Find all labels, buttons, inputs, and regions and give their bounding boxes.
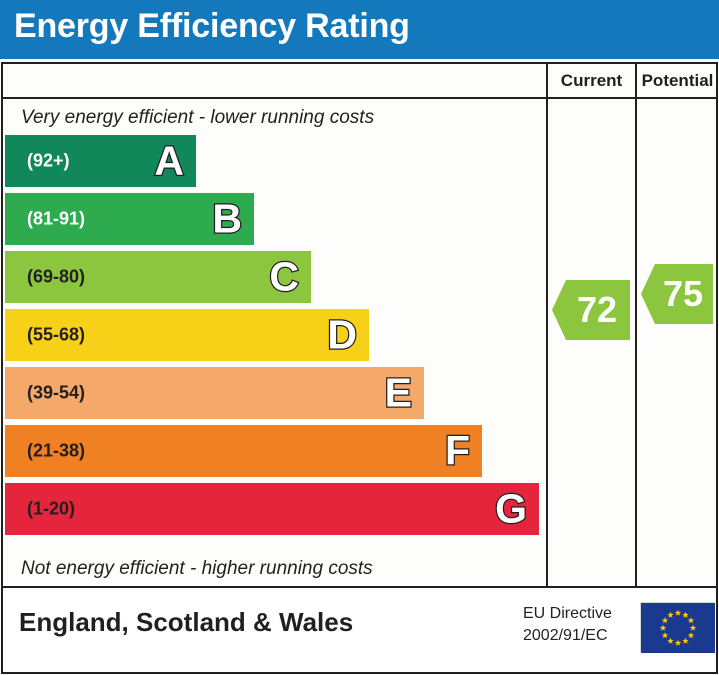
band-range-g: (1-20) <box>27 499 75 520</box>
eu-directive-line2: 2002/91/EC <box>523 625 633 647</box>
band-range-e: (39-54) <box>27 383 85 404</box>
band-range-f: (21-38) <box>27 441 85 462</box>
page-title: Energy Efficiency Rating <box>14 7 410 46</box>
current-rating-arrow: 72 <box>552 280 630 340</box>
band-bar-b: (81-91)B <box>5 193 254 245</box>
eu-directive-line1: EU Directive <box>523 603 633 625</box>
band-range-d: (55-68) <box>27 325 85 346</box>
column-header-current: Current <box>546 64 635 97</box>
band-letter-d: D <box>327 315 357 356</box>
title-bar: Energy Efficiency Rating <box>0 0 719 59</box>
band-letter-e: E <box>385 373 412 414</box>
band-bar-g: (1-20)G <box>5 483 539 535</box>
energy-efficiency-certificate: Energy Efficiency Rating Current Potenti… <box>0 0 719 675</box>
band-range-a: (92+) <box>27 151 70 172</box>
band-range-c: (69-80) <box>27 267 85 288</box>
column-header-potential: Potential <box>635 64 718 97</box>
caption-not-efficient: Not energy efficient - higher running co… <box>3 551 546 586</box>
band-bar-c: (69-80)C <box>5 251 311 303</box>
band-range-b: (81-91) <box>27 209 85 230</box>
potential-rating-value: 75 <box>651 276 703 312</box>
band-letter-a: A <box>154 141 184 182</box>
band-bar-d: (55-68)D <box>5 309 369 361</box>
band-letter-b: B <box>212 199 242 240</box>
band-bars: (92+)A(81-91)B(69-80)C(55-68)D(39-54)E(2… <box>3 135 546 551</box>
rating-grid: Current Potential Very energy efficient … <box>1 62 718 674</box>
region-label: England, Scotland & Wales <box>19 607 353 638</box>
eu-flag-icon <box>640 602 714 652</box>
potential-rating-arrow: 75 <box>641 264 713 324</box>
band-bar-f: (21-38)F <box>5 425 482 477</box>
column-divider-2 <box>635 99 637 586</box>
band-letter-g: G <box>495 489 527 530</box>
caption-efficient: Very energy efficient - lower running co… <box>3 100 546 135</box>
current-rating-value: 72 <box>565 292 617 328</box>
band-letter-c: C <box>269 257 299 298</box>
footer-strip: England, Scotland & Wales EU Directive 2… <box>3 586 716 672</box>
eu-directive-label: EU Directive 2002/91/EC <box>523 603 633 646</box>
eu-flag-svg <box>641 603 715 653</box>
band-bar-a: (92+)A <box>5 135 196 187</box>
band-letter-f: F <box>445 431 470 472</box>
column-divider-1 <box>546 99 548 586</box>
band-bar-e: (39-54)E <box>5 367 424 419</box>
column-header-row: Current Potential <box>3 64 716 99</box>
